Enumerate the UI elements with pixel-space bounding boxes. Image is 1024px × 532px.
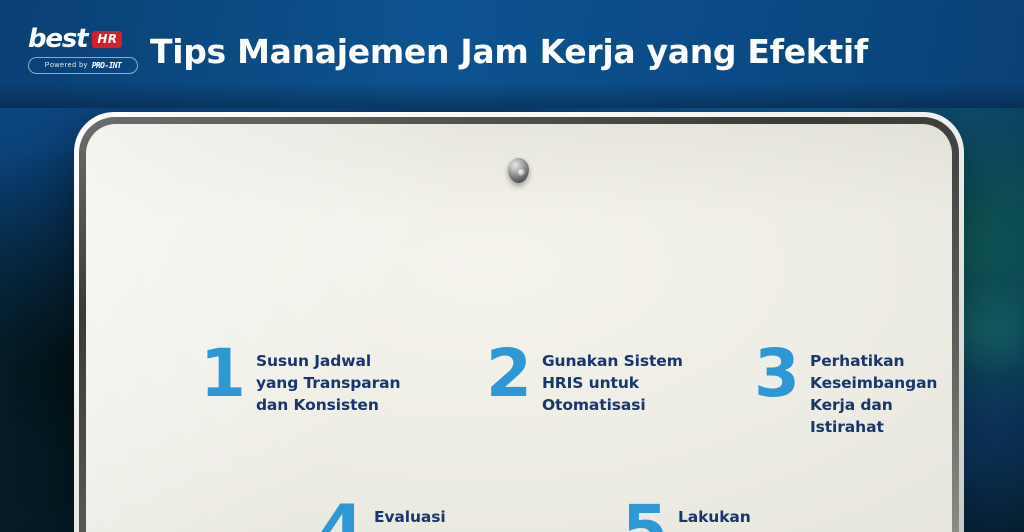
tip-number: 3: [754, 344, 798, 405]
list-item: 2 Gunakan Sistem HRIS untuk Otomatisasi: [486, 344, 683, 416]
whiteboard: 1 Susun Jadwal yang Transparan dan Konsi…: [74, 112, 964, 532]
list-item: 4 Evaluasi Kebutuhan Lembur dengan Bijak: [318, 500, 539, 532]
list-item: 5 Lakukan Monitoring dan Evaluasi Berkal…: [622, 500, 821, 532]
list-item: 1 Susun Jadwal yang Transparan dan Konsi…: [200, 344, 400, 416]
tip-number: 1: [200, 344, 244, 405]
logo-hr-badge: HR: [92, 31, 122, 48]
tip-label: Lakukan Monitoring dan Evaluasi Berkala: [678, 500, 821, 532]
page-title: Tips Manajemen Jam Kerja yang Efektif: [150, 32, 990, 71]
logo-wordmark: best: [28, 26, 87, 52]
tip-number: 2: [486, 344, 530, 405]
powered-by-label: Powered by: [45, 62, 88, 69]
header-bar: best HR Powered by PRO-INT Tips Manajeme…: [0, 0, 1024, 108]
tip-label: Perhatikan Keseimbangan Kerja dan Istira…: [810, 344, 964, 438]
tip-number: 4: [318, 500, 362, 532]
partner-logo-label: PRO-INT: [92, 61, 122, 70]
tip-label: Evaluasi Kebutuhan Lembur dengan Bijak: [374, 500, 539, 532]
tips-list: 1 Susun Jadwal yang Transparan dan Konsi…: [74, 112, 964, 532]
logo-wordmark-row: best HR: [28, 26, 138, 52]
tip-label: Susun Jadwal yang Transparan dan Konsist…: [256, 344, 401, 416]
logo-powered-by-pill: Powered by PRO-INT: [28, 57, 138, 74]
tip-label: Gunakan Sistem HRIS untuk Otomatisasi: [542, 344, 683, 416]
brand-logo[interactable]: best HR Powered by PRO-INT: [28, 26, 138, 74]
tip-number: 5: [622, 500, 666, 532]
list-item: 3 Perhatikan Keseimbangan Kerja dan Isti…: [754, 344, 964, 438]
